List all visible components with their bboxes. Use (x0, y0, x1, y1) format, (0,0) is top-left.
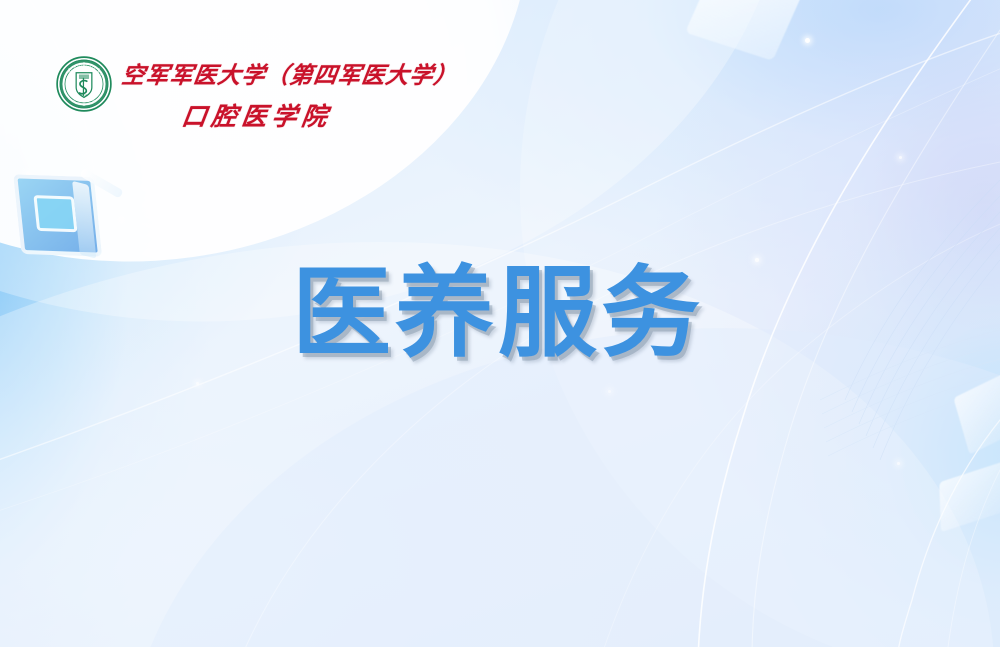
glow-dot-icon (196, 382, 199, 385)
institution-logo-block: S C H O O L O F S T 中 国 口 腔 院 (56, 54, 458, 133)
glow-dot-icon (897, 462, 900, 465)
glow-dot-icon (899, 156, 902, 159)
cube-inner-face (33, 195, 77, 232)
banner-canvas: S C H O O L O F S T 中 国 口 腔 院 (0, 0, 1000, 647)
school-seal-emblem-icon: S C H O O L O F S T 中 国 口 腔 院 (56, 56, 112, 112)
glow-dot-icon (805, 38, 810, 43)
glow-dot-icon (755, 258, 759, 262)
translucent-cube-icon (7, 162, 137, 274)
glow-dot-icon (608, 390, 611, 393)
svg-text:1935: 1935 (80, 93, 87, 97)
page-title: 医养服务 (292, 264, 704, 363)
institution-line-2: 口腔医学院 (179, 97, 460, 133)
institution-line-1: 空军军医大学（第四军医大学） (120, 56, 461, 90)
svg-text:口: 口 (82, 102, 85, 106)
institution-name-text: 空军军医大学（第四军医大学） 口腔医学院 (122, 54, 458, 133)
